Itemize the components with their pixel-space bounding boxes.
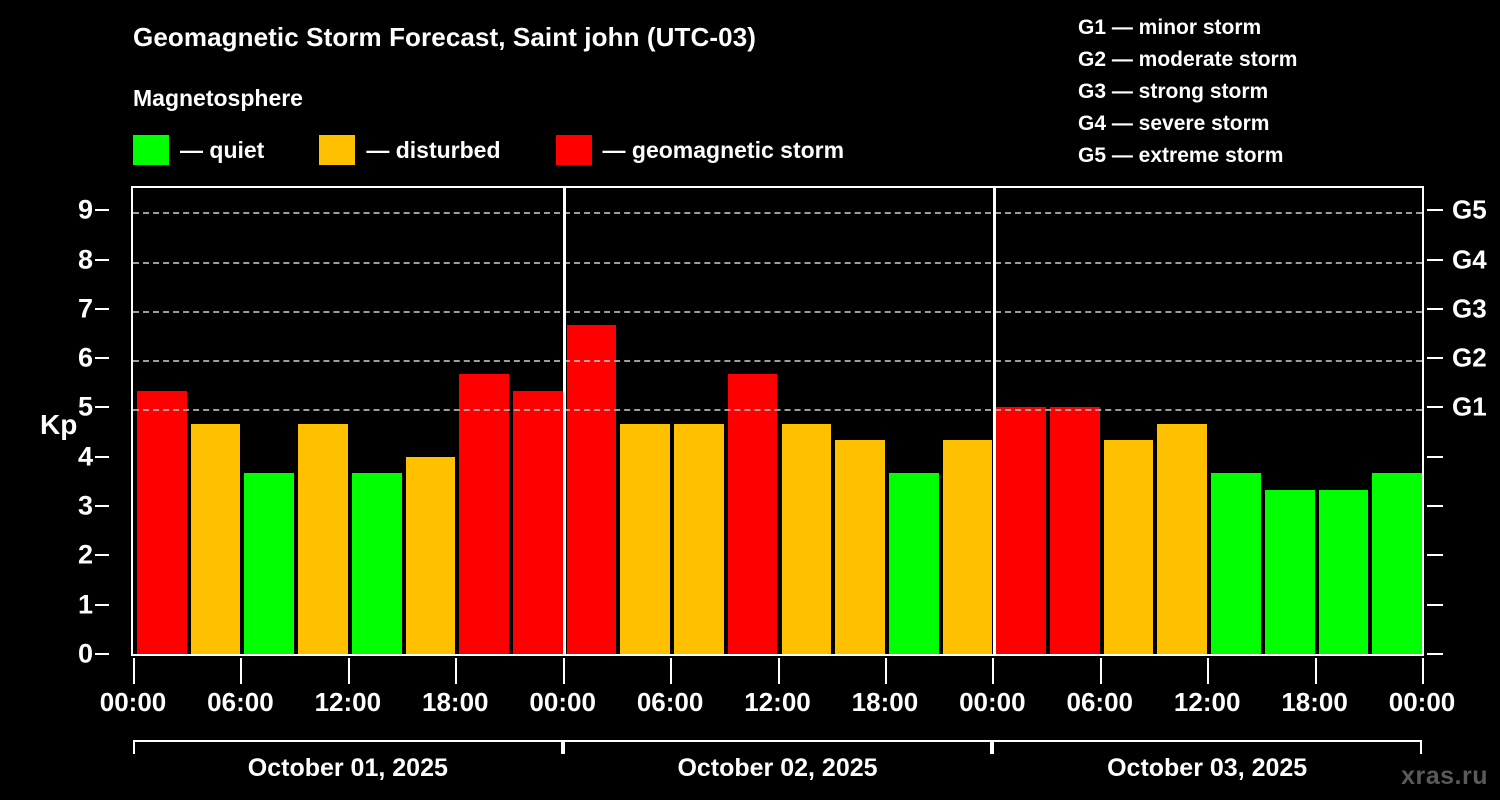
bar bbox=[1157, 424, 1207, 654]
page-title: Geomagnetic Storm Forecast, Saint john (… bbox=[133, 22, 756, 53]
g-axis-minor-tick bbox=[1427, 505, 1443, 507]
x-tick-mark bbox=[563, 658, 565, 684]
y-tick-mark bbox=[95, 259, 109, 261]
bar bbox=[1265, 490, 1315, 654]
y-tick-mark bbox=[95, 357, 109, 359]
day-bracket bbox=[133, 740, 563, 754]
x-tick-mark bbox=[1100, 658, 1102, 684]
x-tick-label: 18:00 bbox=[422, 687, 489, 718]
g-axis-minor-tick bbox=[1427, 554, 1443, 556]
plot-area bbox=[131, 186, 1424, 656]
green-square-icon bbox=[133, 135, 169, 165]
gridline bbox=[133, 311, 1422, 313]
g-tick-label: G1 bbox=[1452, 392, 1487, 423]
g-tick-label: G2 bbox=[1452, 343, 1487, 374]
x-tick-mark bbox=[1207, 658, 1209, 684]
y-axis: 0123456789 bbox=[0, 0, 131, 690]
watermark: xras.ru bbox=[1401, 762, 1488, 791]
bar bbox=[996, 407, 1046, 654]
day-label: October 01, 2025 bbox=[248, 754, 448, 783]
x-tick-label: 18:00 bbox=[1281, 687, 1348, 718]
x-tick-mark bbox=[1315, 658, 1317, 684]
red-square-icon bbox=[556, 135, 592, 165]
gridline bbox=[133, 262, 1422, 264]
g-tick-mark bbox=[1427, 209, 1443, 211]
g-tick-mark bbox=[1427, 406, 1443, 408]
bar bbox=[620, 424, 670, 654]
bar bbox=[1104, 440, 1154, 654]
x-tick-label: 06:00 bbox=[1067, 687, 1134, 718]
orange-square-icon bbox=[319, 135, 355, 165]
y-tick-label: 8 bbox=[53, 244, 93, 275]
g-scale-item-g2: G2 — moderate storm bbox=[1078, 44, 1297, 76]
bar bbox=[943, 440, 993, 654]
bar bbox=[298, 424, 348, 654]
legend-item-quiet: — quiet bbox=[133, 135, 264, 165]
g-axis-minor-tick bbox=[1427, 653, 1443, 655]
bar bbox=[1372, 473, 1422, 654]
g-scale-item-g5: G5 — extreme storm bbox=[1078, 140, 1297, 172]
x-tick-label: 06:00 bbox=[207, 687, 274, 718]
x-tick-mark bbox=[455, 658, 457, 684]
x-tick-label: 00:00 bbox=[1389, 687, 1456, 718]
x-tick-mark bbox=[1422, 658, 1424, 684]
y-tick-mark bbox=[95, 456, 109, 458]
bar bbox=[1319, 490, 1369, 654]
x-tick-mark bbox=[885, 658, 887, 684]
y-tick-mark bbox=[95, 406, 109, 408]
x-tick-label: 12:00 bbox=[744, 687, 811, 718]
g-scale-legend: G1 — minor storm G2 — moderate storm G3 … bbox=[1078, 12, 1297, 172]
g-scale-item-g4: G4 — severe storm bbox=[1078, 108, 1297, 140]
bar bbox=[728, 374, 778, 654]
bar bbox=[244, 473, 294, 654]
day-label: October 02, 2025 bbox=[677, 754, 877, 783]
bar bbox=[674, 424, 724, 654]
magnetosphere-legend: — quiet — disturbed — geomagnetic storm bbox=[133, 133, 844, 167]
bar bbox=[352, 473, 402, 654]
g-tick-label: G4 bbox=[1452, 244, 1487, 275]
g-axis-minor-tick bbox=[1427, 604, 1443, 606]
bar bbox=[835, 440, 885, 654]
bar bbox=[782, 424, 832, 654]
y-tick-mark bbox=[95, 653, 109, 655]
bar bbox=[513, 391, 563, 654]
x-tick-mark bbox=[992, 658, 994, 684]
gridline bbox=[133, 212, 1422, 214]
day-label: October 03, 2025 bbox=[1107, 754, 1307, 783]
g-tick-mark bbox=[1427, 308, 1443, 310]
g-axis: G1G2G3G4G5 bbox=[1424, 0, 1500, 690]
x-tick-mark bbox=[348, 658, 350, 684]
x-tick-label: 12:00 bbox=[315, 687, 382, 718]
y-tick-mark bbox=[95, 308, 109, 310]
x-tick-label: 00:00 bbox=[959, 687, 1026, 718]
legend-item-disturbed: — disturbed bbox=[319, 135, 500, 165]
g-tick-label: G5 bbox=[1452, 195, 1487, 226]
bar bbox=[137, 391, 187, 654]
x-tick-label: 00:00 bbox=[100, 687, 167, 718]
bar bbox=[1050, 407, 1100, 654]
y-tick-label: 5 bbox=[53, 392, 93, 423]
day-bracket bbox=[563, 740, 993, 754]
y-tick-label: 9 bbox=[53, 195, 93, 226]
x-tick-mark bbox=[670, 658, 672, 684]
y-tick-label: 4 bbox=[53, 441, 93, 472]
y-tick-label: 2 bbox=[53, 540, 93, 571]
y-tick-label: 3 bbox=[53, 491, 93, 522]
y-tick-mark bbox=[95, 209, 109, 211]
x-tick-mark bbox=[778, 658, 780, 684]
day-bracket bbox=[992, 740, 1422, 754]
legend-item-storm: — geomagnetic storm bbox=[556, 135, 845, 165]
g-scale-item-g3: G3 — strong storm bbox=[1078, 76, 1297, 108]
x-tick-label: 12:00 bbox=[1174, 687, 1241, 718]
g-tick-label: G3 bbox=[1452, 293, 1487, 324]
bar bbox=[459, 374, 509, 654]
g-scale-item-g1: G1 — minor storm bbox=[1078, 12, 1297, 44]
x-tick-label: 00:00 bbox=[529, 687, 596, 718]
bar bbox=[889, 473, 939, 654]
gridline bbox=[133, 409, 1422, 411]
legend-label-disturbed: — disturbed bbox=[366, 137, 500, 164]
day-separator bbox=[993, 188, 996, 654]
x-tick-mark bbox=[240, 658, 242, 684]
x-tick-mark bbox=[133, 658, 135, 684]
bar bbox=[567, 325, 617, 654]
bar bbox=[406, 457, 456, 654]
y-tick-label: 1 bbox=[53, 589, 93, 620]
y-tick-mark bbox=[95, 505, 109, 507]
x-tick-label: 18:00 bbox=[852, 687, 919, 718]
y-tick-mark bbox=[95, 554, 109, 556]
x-tick-label: 06:00 bbox=[637, 687, 704, 718]
g-tick-mark bbox=[1427, 357, 1443, 359]
gridline bbox=[133, 360, 1422, 362]
bar-series bbox=[133, 188, 1422, 654]
g-axis-minor-tick bbox=[1427, 456, 1443, 458]
y-tick-mark bbox=[95, 604, 109, 606]
chart-root: Geomagnetic Storm Forecast, Saint john (… bbox=[0, 0, 1500, 800]
y-tick-label: 6 bbox=[53, 343, 93, 374]
bar bbox=[1211, 473, 1261, 654]
legend-label-quiet: — quiet bbox=[180, 137, 264, 164]
day-separator bbox=[563, 188, 566, 654]
magnetosphere-heading: Magnetosphere bbox=[133, 85, 303, 112]
bar bbox=[191, 424, 241, 654]
g-tick-mark bbox=[1427, 259, 1443, 261]
legend-label-storm: — geomagnetic storm bbox=[603, 137, 845, 164]
y-tick-label: 7 bbox=[53, 293, 93, 324]
